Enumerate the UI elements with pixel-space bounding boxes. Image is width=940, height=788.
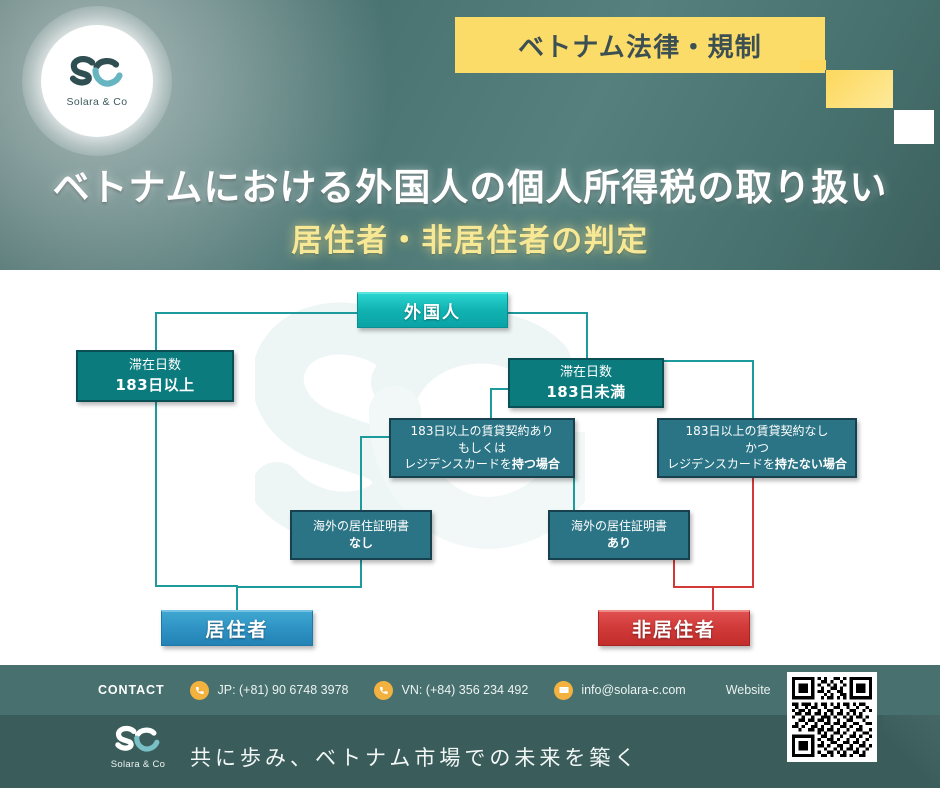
node-stay-under-183[interactable]: 滞在日数 183日未満 — [508, 358, 664, 408]
node-lease-or-residence-card-yes-line2: もしくは — [458, 440, 506, 457]
wire-cond-right-down-red — [752, 478, 754, 588]
node-overseas-certificate-none[interactable]: 海外の居住証明書 なし — [290, 510, 432, 560]
page-subtitle: 居住者・非居住者の判定 — [0, 215, 940, 260]
wire-left-branch-down — [155, 402, 157, 587]
node-lease-or-residence-card-yes[interactable]: 183日以上の賃貸契約あり もしくは レジデンスカードを持つ場合 — [389, 418, 575, 478]
contact-item-vn-phone[interactable]: VN: (+84) 356 234 492 — [374, 681, 528, 700]
footer-logo: Solara & Co — [105, 725, 171, 770]
decor-square-yellow-large — [826, 70, 893, 108]
node-overseas-certificate-yes-line1: 海外の居住証明書 — [571, 518, 667, 535]
node-overseas-certificate-yes[interactable]: 海外の居住証明書 あり — [548, 510, 690, 560]
result-non-resident-label: 非居住者 — [632, 615, 716, 642]
node-no-lease-no-residence-card-line3-pre: レジデンスカードを — [667, 457, 775, 471]
node-stay-183-or-more-line2: 183日以上 — [115, 375, 194, 395]
phone-icon — [374, 681, 393, 700]
node-stay-under-183-line1: 滞在日数 — [560, 364, 612, 382]
brand-logo-wordmark: Solara & Co — [66, 96, 127, 108]
contact-item-email[interactable]: info@solara-c.com — [554, 681, 685, 700]
website-label: Website — [726, 683, 771, 697]
node-overseas-certificate-yes-line2: あり — [607, 535, 631, 552]
node-no-lease-no-residence-card-line3-strong: 持たない場合 — [775, 457, 847, 471]
contact-item-vn-phone-text: VN: (+84) 356 234 492 — [401, 683, 528, 697]
node-foreigner[interactable]: 外国人 — [357, 292, 508, 328]
node-no-lease-no-residence-card-line2: かつ — [745, 440, 769, 457]
node-lease-or-residence-card-yes-line3-pre: レジデンスカードを — [404, 457, 512, 471]
infographic-page: Solara & Co ベトナム法律・規制 ベトナムにおける外国人の個人所得税の… — [0, 0, 940, 788]
decor-square-yellow-small — [800, 60, 826, 70]
page-title: ベトナムにおける外国人の個人所得税の取り扱い — [0, 157, 940, 211]
category-badge-label: ベトナム法律・規制 — [518, 27, 762, 64]
node-lease-or-residence-card-yes-line3-strong: 持つ場合 — [512, 457, 560, 471]
contact-item-jp-phone[interactable]: JP: (+81) 90 6748 3978 — [190, 681, 348, 700]
wire-left-spine — [155, 585, 237, 587]
footer-corner-accent — [882, 715, 940, 788]
contact-item-email-text: info@solara-c.com — [581, 683, 685, 697]
node-stay-183-or-more-line1: 滞在日数 — [129, 357, 181, 375]
header-banner: Solara & Co ベトナム法律・規制 ベトナムにおける外国人の個人所得税の… — [0, 0, 940, 270]
node-no-lease-no-residence-card-line1: 183日以上の賃貸契約なし — [686, 423, 829, 440]
result-non-resident[interactable]: 非居住者 — [598, 610, 750, 646]
result-resident-label: 居住者 — [205, 615, 268, 642]
wire-cond-left-to-cert-none — [360, 436, 362, 510]
category-badge: ベトナム法律・規制 — [455, 17, 825, 73]
node-overseas-certificate-none-line1: 海外の居住証明書 — [313, 518, 409, 535]
qr-code-image — [792, 677, 872, 757]
wire-cert-none-to-resident — [236, 586, 361, 588]
node-no-lease-no-residence-card[interactable]: 183日以上の賃貸契約なし かつ レジデンスカードを持たない場合 — [657, 418, 857, 478]
contact-item-jp-phone-text: JP: (+81) 90 6748 3978 — [217, 683, 348, 697]
footer-tagline: 共に歩み、ベトナム市場での未来を築く — [190, 742, 639, 772]
sc-monogram-icon — [66, 55, 128, 93]
wire-cert-yes-down-red — [673, 560, 675, 588]
node-foreigner-label: 外国人 — [404, 298, 461, 323]
result-resident[interactable]: 居住者 — [161, 610, 313, 646]
contact-label: CONTACT — [98, 683, 164, 697]
node-lease-or-residence-card-yes-line1: 183日以上の賃貸契約あり — [411, 423, 554, 440]
node-overseas-certificate-none-line2: なし — [349, 535, 373, 552]
node-stay-under-183-line2: 183日未満 — [546, 382, 625, 402]
node-stay-183-or-more[interactable]: 滞在日数 183日以上 — [76, 350, 234, 402]
sc-monogram-icon — [112, 725, 164, 757]
decor-square-white — [894, 110, 934, 144]
qr-code[interactable] — [787, 672, 877, 762]
wire-right-branch-left-down — [490, 388, 492, 421]
footer-logo-wordmark: Solara & Co — [111, 759, 166, 770]
wire-to-right-branch — [586, 312, 588, 358]
mail-icon — [554, 681, 573, 700]
flowchart-stage: 外国人 滞在日数 183日以上 滞在日数 183日未満 183日以上の賃貸契約あ… — [0, 270, 940, 665]
wire-cert-none-down — [360, 560, 362, 588]
wire-right-branch-right-down — [752, 360, 754, 418]
wire-to-left-branch — [155, 312, 157, 350]
phone-icon — [190, 681, 209, 700]
brand-logo: Solara & Co — [41, 25, 153, 137]
